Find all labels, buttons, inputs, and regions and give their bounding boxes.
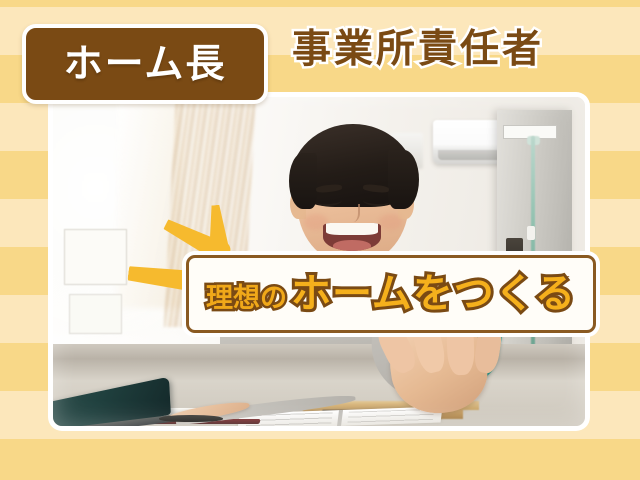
tagline-banner: 理想の ホームをつくる [186,255,596,333]
role-badge: ホーム長 [22,24,268,104]
role-badge-label: ホーム長 [64,45,227,84]
person-cheek-right [379,214,402,229]
desk-surface [53,344,585,426]
person-hair-right [388,150,418,209]
role-subtitle: 事業所責任者 [292,30,544,69]
person-tongue [333,240,370,251]
person-hair-left [289,153,317,209]
person-teeth [326,223,379,235]
person-nose [346,204,360,222]
tagline-main: ホームをつくる [291,274,576,314]
computer-mouse [159,415,223,422]
wall-paper-a [64,229,128,285]
locker-knob [527,226,535,240]
tagline-inner: 理想の ホームをつくる [206,274,576,314]
poster-stage: ホーム長 事業所責任者 理想の ホームをつくる [0,0,640,480]
wall-paper-b [69,294,122,333]
tagline-lead: 理想の [206,285,287,312]
